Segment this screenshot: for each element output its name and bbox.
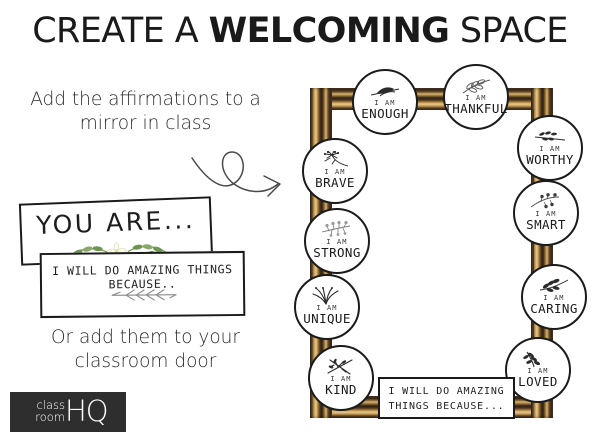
affirmation-word: CARING	[530, 302, 578, 315]
frame-bar-top	[310, 88, 553, 110]
affirmation-word: SMART	[526, 218, 566, 231]
affirmation-word: BRAVE	[315, 176, 355, 189]
classroomhq-logo[interactable]: class room HQ	[10, 392, 126, 432]
crossed-twig-icon	[324, 358, 358, 381]
affirmation-word: ENOUGH	[361, 107, 409, 120]
tip-text-mirror: Add the affirmations to a mirror in clas…	[18, 88, 273, 135]
card-you-are-text: YOU ARE...	[21, 204, 210, 240]
affirmation-circle-thankful[interactable]: I AMTHANKFUL	[443, 64, 509, 130]
title-text-part1: CREATE A	[32, 11, 208, 51]
logo-wordmark-stack: class room	[19, 399, 65, 423]
thistle-sprig-icon	[318, 151, 352, 174]
affirmation-circle-strong[interactable]: I AMSTRONG	[304, 208, 370, 274]
wheat-branch-icon	[100, 287, 186, 309]
affirmation-circle-smart[interactable]: I AMSMART	[513, 180, 579, 246]
tip-text-door: Or add them to your classroom door	[18, 326, 273, 373]
seed-branch-icon	[533, 128, 567, 151]
banner-amazing-things[interactable]: I WILL DO AMAZING THINGS BECAUSE...	[378, 377, 515, 419]
affirmation-word: THANKFUL	[444, 102, 507, 115]
logo-line-room: room	[19, 411, 65, 423]
affirmation-circle-caring[interactable]: I AMCARING	[521, 264, 587, 330]
fern-leaf-icon	[521, 350, 555, 373]
title-text-part2: SPACE	[449, 11, 568, 51]
affirmation-circle-unique[interactable]: I AMUNIQUE	[294, 274, 360, 340]
leafy-twig-icon	[537, 277, 571, 300]
affirmation-circle-brave[interactable]: I AMBRAVE	[302, 138, 368, 204]
banner-text: I WILL DO AMAZING THINGS BECAUSE...	[380, 384, 513, 414]
affirmation-word: WORTHY	[526, 153, 574, 166]
affirmation-circle-kind[interactable]: I AMKIND	[308, 345, 374, 411]
affirmation-circle-worthy[interactable]: I AMWORTHY	[517, 115, 583, 181]
affirmation-word: STRONG	[313, 246, 361, 259]
grass-sprig-icon	[310, 287, 344, 310]
wildflower-sprig-icon	[320, 221, 354, 244]
affirmation-word: UNIQUE	[303, 312, 351, 325]
logo-hq-mark: HQ	[65, 394, 108, 428]
affirmation-word: LOVED	[518, 375, 558, 388]
affirmation-word: KIND	[325, 383, 357, 396]
title-text-bold: WELCOMING	[209, 11, 450, 51]
berry-branch-icon	[529, 193, 563, 216]
banner-line-1: I WILL DO AMAZING	[380, 384, 513, 399]
affirmation-circle-enough[interactable]: I AMENOUGH	[352, 69, 418, 135]
page-title: CREATE A WELCOMING SPACE	[0, 14, 600, 49]
card-amazing-things[interactable]: I WILL DO AMAZING THINGS BECAUSE..	[40, 251, 246, 318]
olive-branch-icon	[459, 77, 493, 100]
banner-line-2: THINGS BECAUSE...	[380, 399, 513, 414]
feather-sprig-icon	[368, 82, 402, 105]
